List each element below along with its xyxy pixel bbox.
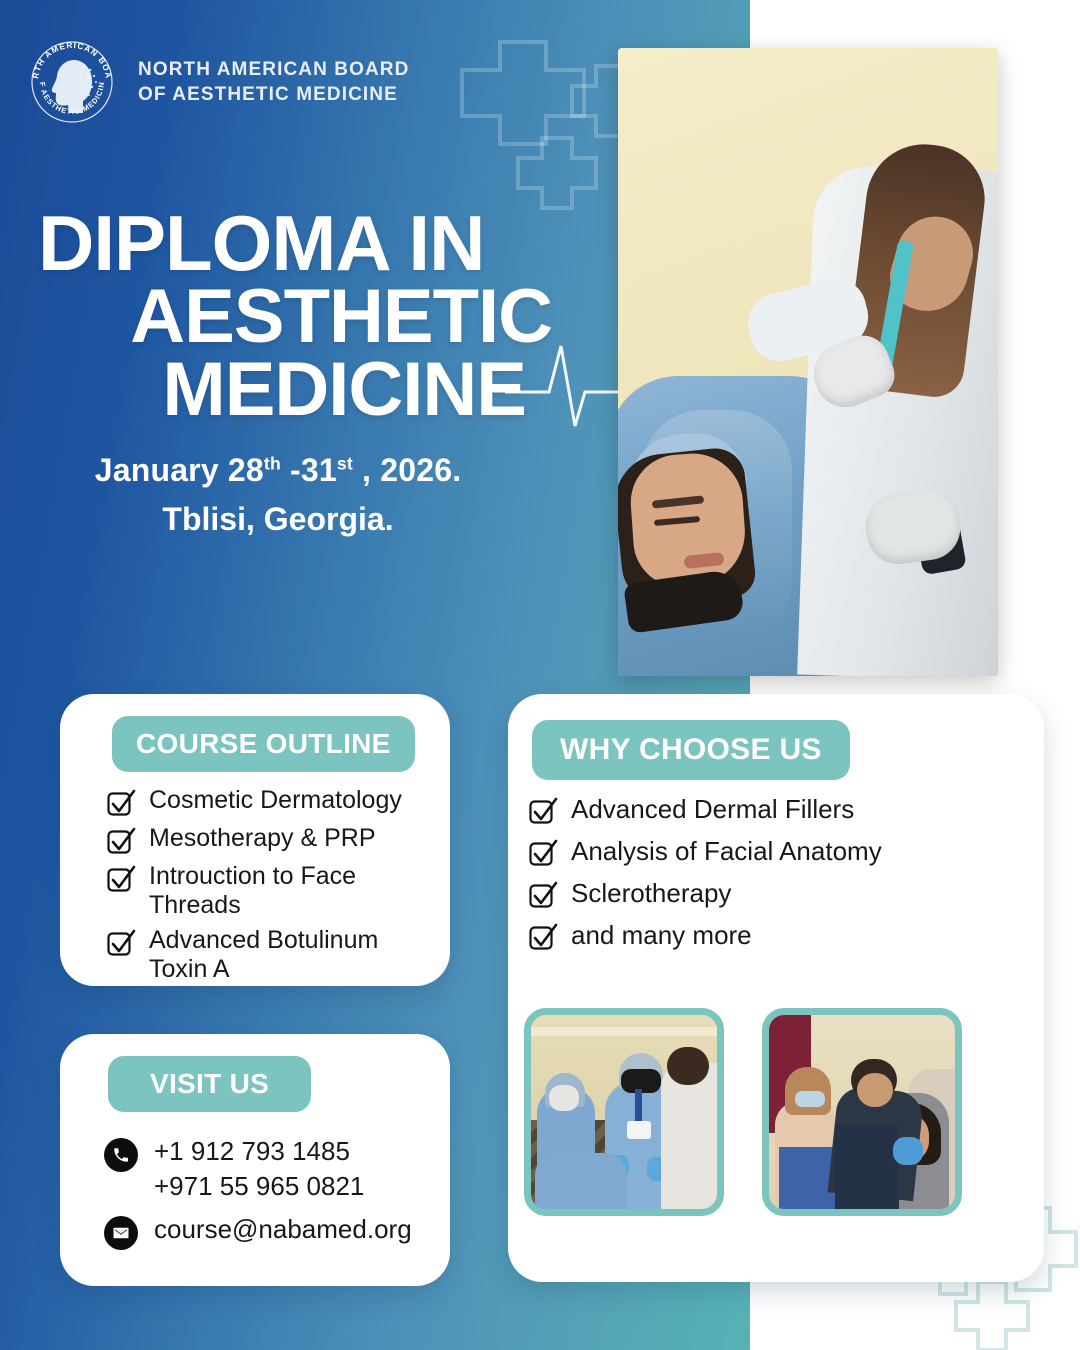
course-outline-heading: COURSE OUTLINE [112,716,415,772]
list-item: Mesotherapy & PRP [106,824,406,856]
list-item-label: Analysis of Facial Anatomy [571,836,882,866]
hero-photo [618,48,998,676]
checkbox-checked-icon [106,928,136,958]
board-seal-face-icon: NORTH AMERICAN BOARD OF AESTHETIC MEDICI… [22,32,122,132]
event-date-suffix: , 2026. [353,452,461,488]
checkbox-checked-icon [106,788,136,818]
list-item: Advanced Botulinum Toxin A [106,926,406,984]
page-title-line1: DIPLOMA IN [38,206,598,281]
list-item: Sclerotherapy [528,878,1044,910]
why-choose-us-list: Advanced Dermal Fillers Analysis of Faci… [508,794,1044,952]
checkbox-checked-icon [106,826,136,856]
phone-numbers: +1 912 793 1485 +971 55 965 0821 [154,1134,364,1204]
checkbox-checked-icon [106,864,136,894]
email-address: course@nabamed.org [154,1212,412,1247]
checkbox-checked-icon [528,922,558,952]
list-item: and many more [528,920,1044,952]
event-date: January 28th -31st , 2026. [38,452,518,489]
event-date-sup2: st [337,453,353,473]
event-date-prefix: January 28 [95,452,264,488]
list-item: Introuction to Face Threads [106,862,406,920]
brand-logo: NORTH AMERICAN BOARD OF AESTHETIC MEDICI… [22,36,582,128]
list-item-label: Advanced Botulinum Toxin A [149,926,406,984]
brand-name-line2: OF AESTHETIC MEDICINE [138,82,409,107]
phone-number-2: +971 55 965 0821 [154,1169,364,1204]
course-outline-list: Cosmetic Dermatology Mesotherapy & PRP I… [60,786,450,984]
event-date-sup1: th [264,453,281,473]
checkbox-checked-icon [528,880,558,910]
list-item-label: Sclerotherapy [571,878,731,908]
poster-canvas: NORTH AMERICAN BOARD OF AESTHETIC MEDICI… [0,0,1080,1350]
visit-us-heading: VISIT US [108,1056,311,1112]
phone-number-1: +1 912 793 1485 [154,1134,364,1169]
list-item-label: and many more [571,920,752,950]
why-choose-us-heading: WHY CHOOSE US [532,720,850,780]
checkbox-checked-icon [528,796,558,826]
gallery-photo-demonstration [762,1008,962,1216]
list-item-label: Mesotherapy & PRP [149,824,376,853]
checkbox-checked-icon [528,838,558,868]
gallery-photo-workshop [524,1008,724,1216]
event-details: January 28th -31st , 2026. Tblisi, Georg… [38,452,518,538]
visit-us-card: VISIT US +1 912 793 1485 +971 55 965 082… [60,1034,450,1286]
list-item: Analysis of Facial Anatomy [528,836,1044,868]
list-item-label: Introuction to Face Threads [149,862,406,920]
contact-phone-row[interactable]: +1 912 793 1485 +971 55 965 0821 [104,1134,450,1204]
phone-icon [104,1138,138,1172]
brand-name-line1: NORTH AMERICAN BOARD [138,57,409,82]
contact-list: +1 912 793 1485 +971 55 965 0821 course@… [104,1134,450,1250]
list-item: Advanced Dermal Fillers [528,794,1044,826]
event-location: Tblisi, Georgia. [38,501,518,538]
list-item-label: Advanced Dermal Fillers [571,794,854,824]
event-date-mid: -31 [281,452,337,488]
course-outline-card: COURSE OUTLINE Cosmetic Dermatology Meso… [60,694,450,986]
envelope-icon [104,1216,138,1250]
brand-name: NORTH AMERICAN BOARD OF AESTHETIC MEDICI… [138,57,409,107]
list-item: Cosmetic Dermatology [106,786,406,818]
contact-email-row[interactable]: course@nabamed.org [104,1212,450,1250]
list-item-label: Cosmetic Dermatology [149,786,402,815]
